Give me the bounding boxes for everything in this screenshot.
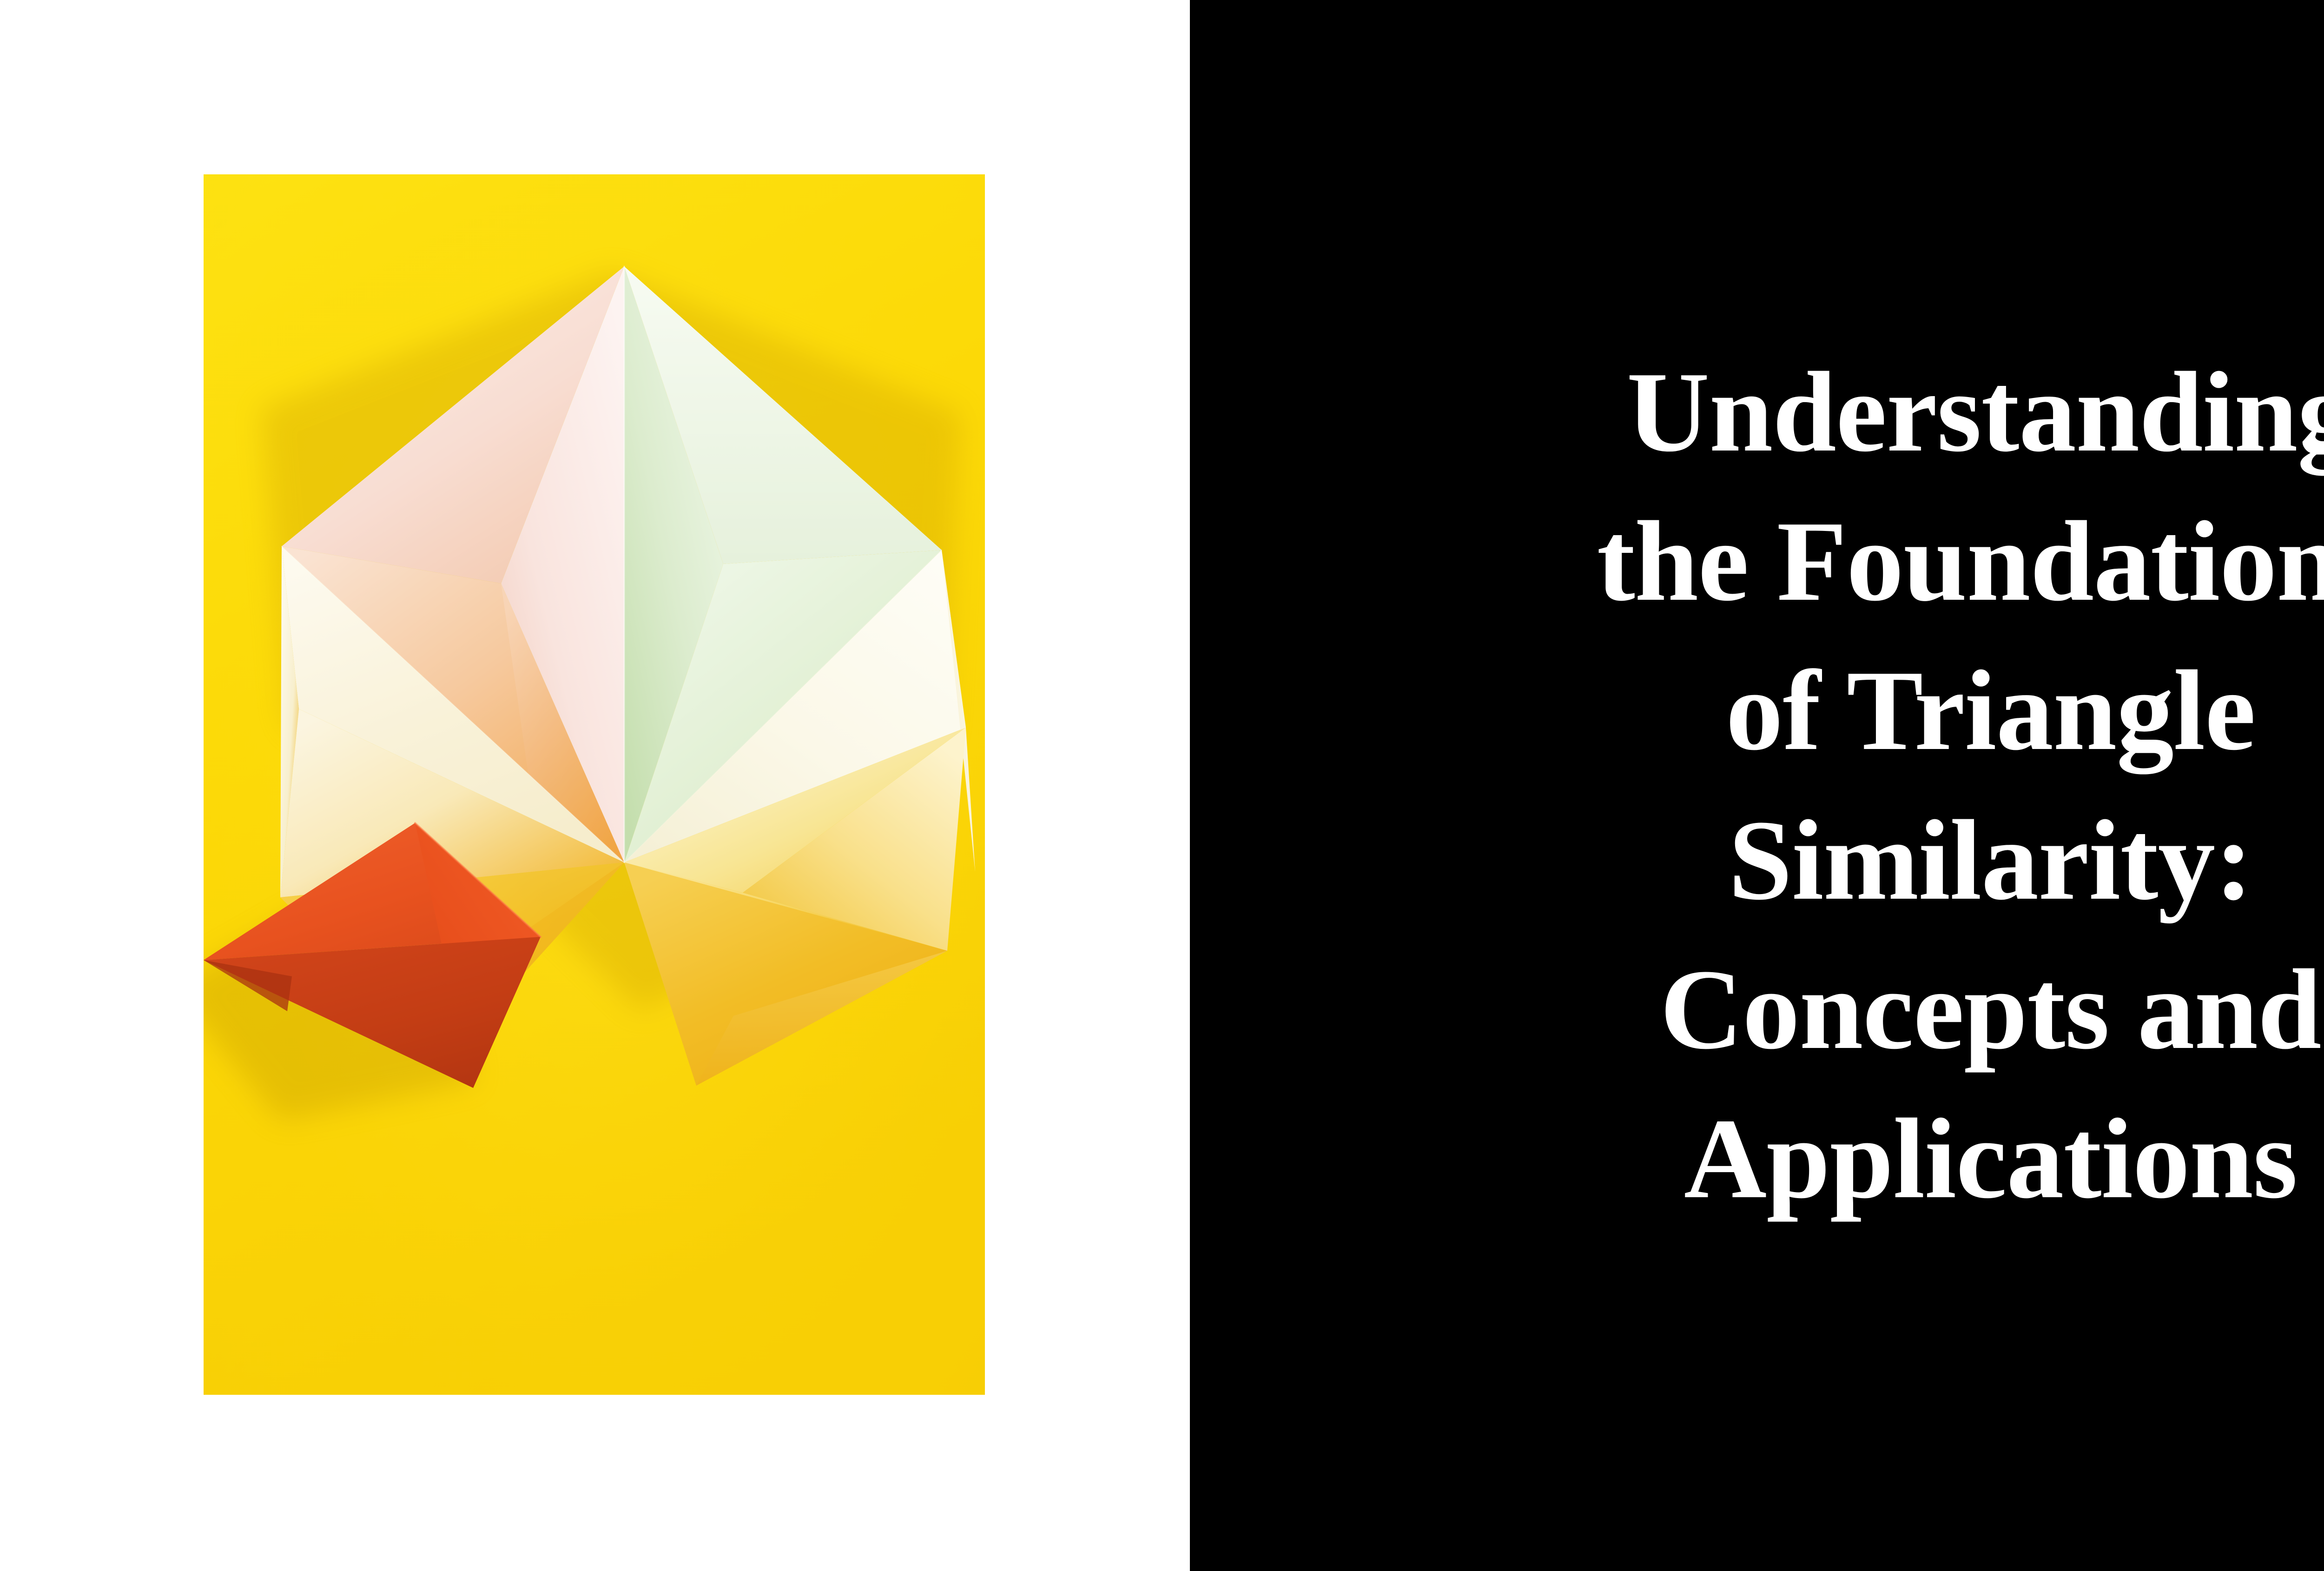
title-line-5: Concepts and — [1282, 935, 2324, 1084]
origami-photo — [204, 174, 985, 1395]
title-line-6: Applications — [1282, 1084, 2324, 1233]
photo-panel — [0, 0, 1190, 1571]
title-panel: Understanding the Foundations of Triangl… — [1190, 0, 2324, 1571]
title-line-4: Similarity: — [1282, 786, 2324, 935]
title-line-3: of Triangle — [1282, 636, 2324, 785]
page-title: Understanding the Foundations of Triangl… — [1282, 338, 2324, 1233]
title-line-1: Understanding — [1282, 338, 2324, 487]
origami-illustration — [204, 174, 985, 1395]
title-line-2: the Foundations — [1282, 487, 2324, 636]
